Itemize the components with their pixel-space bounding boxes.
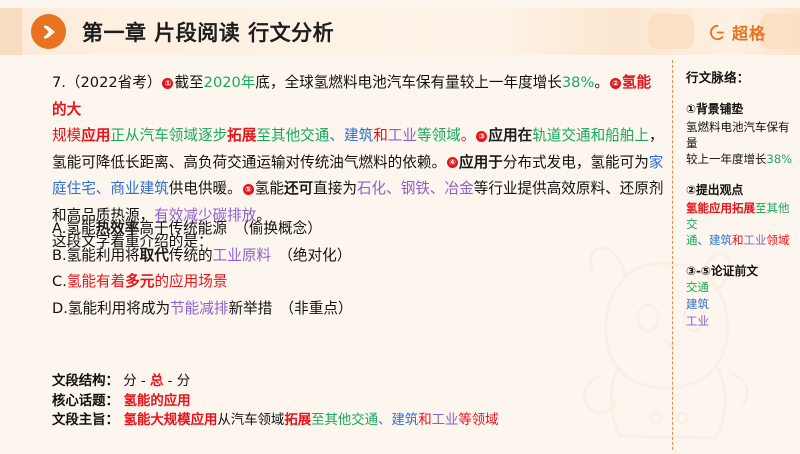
text-run: 建筑 [344,127,373,144]
sidebar-block: ③-⑤论证前文交通建筑工业 [686,263,798,330]
passage-line: 7.（2022省考）①截至2020年底，全球氢燃料电池汽车保有量较上一年度增长3… [52,70,664,123]
text-run: 规模 [52,127,81,144]
text-run: 应用于 [459,154,503,171]
text-run: 轨道交通和船舶上 [532,127,649,144]
chevron-right-icon [31,14,66,49]
answer-options: A.氢能热效率高于传统能源 （偷换概念）B.氢能利用将取代传统的工业原料 （绝对… [52,216,652,322]
sidebar-line: 氢燃料电池汽车保有量 [686,119,798,151]
passage-line: 规模应用正从汽车领域逐步拓展至其他交通、建筑和工业等领域。③应用在轨道交通和船舶… [52,123,664,150]
text-run: 至其他 [755,201,790,215]
sidebar-block-body: 氢能应用拓展至其他交通、建筑和工业领域 [686,200,798,248]
text-run: 和 [732,233,744,247]
marker-number: ① [162,78,173,89]
text-run: D. [52,300,68,317]
text-run: 建筑 [709,233,732,247]
text-run: 、 [329,127,344,144]
text-run: 至其他 [311,413,351,428]
text-run: 庭住宅、商业建筑 [52,180,169,197]
text-run: （绝对化） [271,247,351,264]
brand-name: 超格 [732,20,766,44]
text-run: 等领域 [458,413,498,428]
text-run: 、 [378,413,391,428]
text-run: 氢能 [255,180,284,197]
text-run: 还可 [284,180,313,197]
text-run: 取代 [140,247,169,264]
text-run: 工业 [686,314,709,328]
text-run: 氢能大规模 [119,413,191,428]
text-run: 。 [594,74,609,91]
sidebar-stack-item: 建筑 [686,296,798,313]
text-run: 通 [686,233,698,247]
summary-row: 文段主旨： 氢能大规模应用从汽车领域拓展至其他交通、建筑和工业等领域 [52,411,672,431]
text-run: 供电供暖。 [169,180,242,197]
sidebar-block-head: ①背景铺垫 [686,101,798,117]
text-run: 较上一年度增长 [686,152,767,166]
marker-number: ③ [476,131,487,142]
header-decor-chip-right [760,14,800,49]
text-run: ， [649,127,664,144]
text-run: 工业 [744,233,767,247]
text-run: 家 [649,154,664,171]
text-run: 截至 [174,74,203,91]
text-run: 热效率 [96,220,140,237]
answer-option: B.氢能利用将取代传统的工业原料 （绝对化） [52,243,652,270]
brand-logo: 超格 [709,20,766,44]
marker-number: ② [610,78,621,89]
text-run: 多元 [125,273,154,290]
sidebar-title: 行文脉络： [686,70,798,86]
text-run: 38% [767,152,793,166]
text-run: 等领域 [417,127,461,144]
chaoge-logo-icon [709,24,726,41]
text-run: A. [52,220,66,237]
summary-row: 核心话题： 氢能的应用 [52,392,672,412]
vertical-dashed-divider [672,60,673,450]
text-run: 氢燃料电池汽车保有量 [686,120,790,150]
sidebar-outline: 行文脉络： ①背景铺垫氢燃料电池汽车保有量较上一年度增长38%②提出观点氢能应用… [686,70,798,330]
marker-number: ④ [447,157,458,168]
text-run: 应用 [191,413,218,428]
answer-option: A.氢能热效率高于传统能源 （偷换概念） [52,216,652,243]
text-run: 节能减排 [170,300,228,317]
text-run: 氢能利用将 [67,247,140,264]
text-run: 氢能 [66,220,95,237]
sidebar-line: 氢能应用拓展至其他交 [686,200,798,232]
summary-row-label: 核心话题： [52,394,119,409]
text-run: （偷换概念） [227,220,322,237]
text-run: 和 [418,413,431,428]
text-run: 38% [562,74,594,91]
text-run: 总 [150,374,163,389]
text-run: 氢能利用将成为 [68,300,170,317]
passage-line: 氢能可降低长距离、高负荷交通运输对传统油气燃料的依赖。④应用于分布式发电，氢能可… [52,150,664,177]
text-run: 至其他 [256,127,300,144]
text-run: B. [52,247,67,264]
text-run: 拓展 [284,413,311,428]
sidebar-block: ②提出观点氢能应用拓展至其他交通、建筑和工业领域 [686,182,798,248]
sidebar-block-head: ③-⑤论证前文 [686,263,798,279]
text-run: 应用在 [488,127,532,144]
text-run: 新举措 [228,300,272,317]
summary-row: 文段结构： 分 - 总 - 分 [52,372,672,392]
text-run: 氢能可降低长距离、高负荷交通运输对传统油气燃料的依赖。 [52,154,446,171]
sidebar-stack: 交通建筑工业 [686,279,798,330]
text-run: 底，全球氢燃料电池汽车保有量较上一年度增长 [255,74,561,91]
text-run: 7.（2022省考） [52,74,161,91]
sidebar-block: ①背景铺垫氢燃料电池汽车保有量较上一年度增长38% [686,101,798,167]
text-run: 、 [698,233,710,247]
text-run: 高于传统能源 [139,220,227,237]
text-run: 分布式发电，氢能可为 [503,154,649,171]
passage-line: 庭住宅、商业建筑供电供暖。⑤氢能还可直接为石化、钢铁、冶金等行业提供高效原料、还… [52,176,664,203]
text-run: 石化、钢铁、冶金 [357,180,474,197]
text-run: 等行业提供高效原料、还原剂 [474,180,664,197]
text-run: 正从汽车领域逐步 [110,127,227,144]
text-run: 交通 [686,280,709,294]
text-run: 氢能的应用 [119,394,191,409]
text-run: 直接为 [313,180,357,197]
sidebar-stack-item: 工业 [686,313,798,330]
text-run: 2020年 [204,74,256,91]
text-run: - 分 [163,374,190,389]
text-run: 建筑 [686,297,709,311]
text-run: 工业原料 [213,247,271,264]
text-run: 工业 [388,127,417,144]
summary-row-label: 文段结构： [52,374,119,389]
text-run: 交通 [351,413,378,428]
text-run: 应用 [81,127,110,144]
text-run: 分 - [119,374,150,389]
sidebar-block-body: 氢燃料电池汽车保有量较上一年度增长38% [686,119,798,167]
summary-row-label: 文段主旨： [52,413,119,428]
text-run: 氢能应用拓展 [686,201,755,215]
text-run: 和 [373,127,388,144]
text-run: 交 [686,217,698,231]
text-run: 交通 [300,127,329,144]
header-decor-chip-left [648,14,694,49]
text-run: 氢能有着 [67,273,125,290]
answer-option: C.氢能有着多元的应用场景 [52,269,652,296]
sidebar-block-head: ②提出观点 [686,182,798,198]
sidebar-blocks: ①背景铺垫氢燃料电池汽车保有量较上一年度增长38%②提出观点氢能应用拓展至其他交… [686,101,798,330]
answer-option: D.氢能利用将成为节能减排新举措 （非重点） [52,296,652,323]
text-run: 领域 [767,233,790,247]
text-run: 从汽车领域 [217,413,284,428]
sidebar-stack-item: 交通 [686,279,798,296]
text-run: 。 [461,127,476,144]
page-title: 第一章 片段阅读 行文分析 [82,17,334,47]
text-run: （非重点） [272,300,352,317]
text-run: C. [52,273,67,290]
text-run: 建筑 [391,413,418,428]
text-run: 传统的 [169,247,213,264]
sidebar-line: 通、建筑和工业领域 [686,232,798,248]
text-run: 的应用场景 [154,273,227,290]
marker-number: ⑤ [243,184,254,195]
text-run: 拓展 [227,127,256,144]
text-run: 工业 [432,413,459,428]
summary-block: 文段结构： 分 - 总 - 分核心话题： 氢能的应用文段主旨： 氢能大规模应用从… [52,372,672,431]
sidebar-line: 较上一年度增长38% [686,151,798,167]
